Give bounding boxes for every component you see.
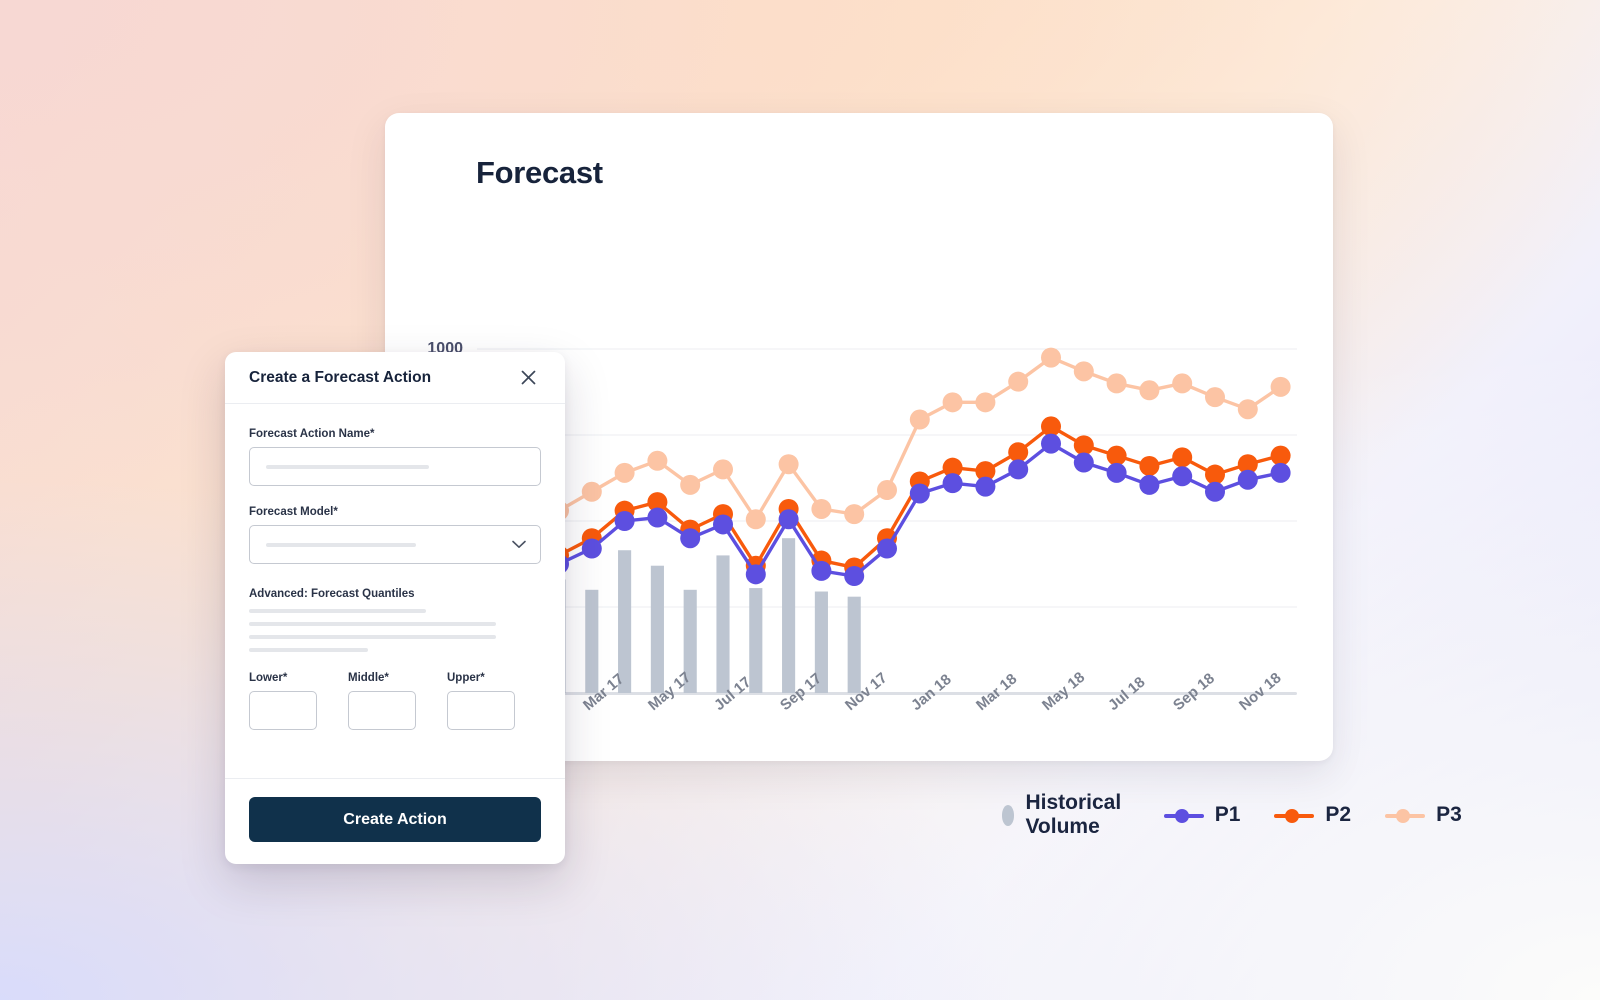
upper-input[interactable] <box>447 691 515 730</box>
legend-swatch-icon <box>1164 805 1204 826</box>
legend-item[interactable]: P1 <box>1164 803 1241 827</box>
skeleton-line <box>249 609 426 613</box>
lower-input[interactable] <box>249 691 317 730</box>
middle-label: Middle* <box>348 672 416 684</box>
close-icon[interactable] <box>515 365 541 391</box>
dialog-footer: Create Action <box>225 778 565 864</box>
middle-input[interactable] <box>348 691 416 730</box>
legend-item[interactable]: P3 <box>1385 803 1462 827</box>
create-action-button[interactable]: Create Action <box>249 797 541 842</box>
upper-label: Upper* <box>447 672 515 684</box>
dialog-header: Create a Forecast Action <box>225 352 565 404</box>
x-axis-ticks: Jan 17Mar 17May 17Jul 17Sep 17Nov 17Jan … <box>477 701 1297 771</box>
skeleton-line <box>249 648 368 652</box>
legend-label: P2 <box>1325 803 1351 827</box>
forecast-action-name-input[interactable] <box>249 447 541 486</box>
select-placeholder-line <box>266 543 416 547</box>
legend-swatch-icon <box>1274 805 1314 826</box>
dialog-title: Create a Forecast Action <box>249 369 431 387</box>
advanced-quantiles-label: Advanced: Forecast Quantiles <box>249 588 541 600</box>
legend-swatch-icon <box>1002 805 1014 826</box>
skeleton-line <box>249 622 496 626</box>
forecast-action-name-label: Forecast Action Name* <box>249 428 541 440</box>
quantile-field-middle: Middle* <box>348 672 416 730</box>
legend-label: Historical Volume <box>1025 791 1129 839</box>
quantile-field-upper: Upper* <box>447 672 515 730</box>
legend-swatch-icon <box>1385 805 1425 826</box>
legend-label: P3 <box>1436 803 1462 827</box>
skeleton-line <box>249 635 496 639</box>
quantile-field-lower: Lower* <box>249 672 317 730</box>
legend-label: P1 <box>1215 803 1241 827</box>
input-placeholder-line <box>266 465 429 469</box>
chevron-down-icon <box>512 540 526 549</box>
forecast-model-label: Forecast Model* <box>249 506 541 518</box>
forecast-model-select[interactable] <box>249 525 541 564</box>
dialog-body: Forecast Action Name* Forecast Model* Ad… <box>225 404 565 730</box>
chart-legend: Historical VolumeP1P2P3 <box>1002 791 1462 839</box>
quantile-fields-row: Lower* Middle* Upper* <box>249 672 541 730</box>
legend-item[interactable]: Historical Volume <box>1002 791 1130 839</box>
legend-item[interactable]: P2 <box>1274 803 1351 827</box>
create-forecast-action-dialog: Create a Forecast Action Forecast Action… <box>225 352 565 864</box>
lower-label: Lower* <box>249 672 317 684</box>
